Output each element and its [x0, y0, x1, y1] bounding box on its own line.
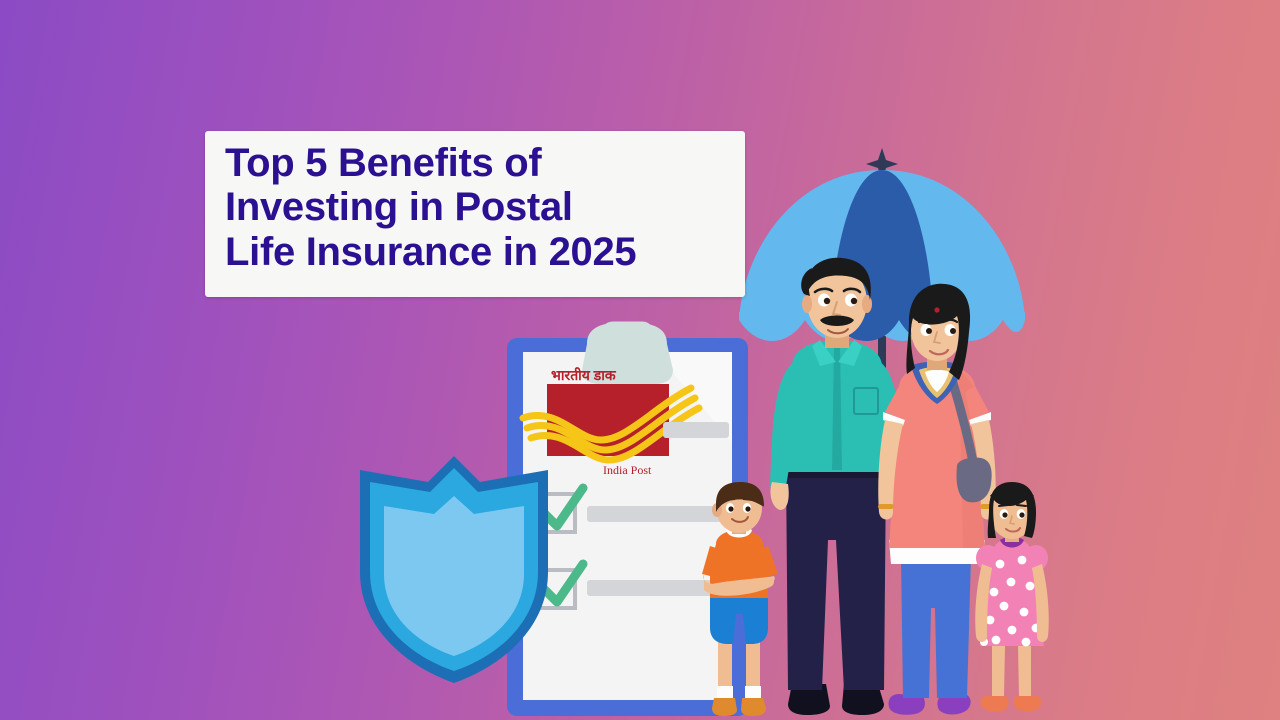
logo-flag-rect: [547, 384, 669, 456]
title-card: Top 5 Benefits of Investing in Postal Li…: [205, 131, 745, 297]
girl-shoe: [981, 696, 1009, 711]
boy-shorts: [710, 590, 768, 644]
boy-shoe: [712, 698, 737, 716]
girl-leg: [992, 646, 1005, 696]
woman-bindi: [934, 307, 939, 312]
girl-leg: [1018, 646, 1031, 696]
shield-illustration: [352, 452, 557, 687]
girl-shoe: [1014, 696, 1042, 711]
woman-bangle: [878, 504, 894, 509]
man-ear: [862, 295, 872, 313]
logo-english-text: India Post: [603, 463, 652, 477]
page-title: Top 5 Benefits of Investing in Postal Li…: [225, 141, 745, 274]
man-trousers: [786, 468, 886, 690]
figure-boy: [688, 486, 793, 720]
figure-girl: [960, 494, 1065, 720]
banner-canvas: Top 5 Benefits of Investing in Postal Li…: [0, 0, 1280, 720]
boy-shoe: [741, 698, 766, 716]
boy-sock: [745, 686, 761, 699]
logo-hindi-text: भारतीय डाक: [551, 367, 617, 383]
family-illustration: [660, 270, 1090, 720]
boy-sock: [717, 686, 733, 699]
man-ear: [802, 295, 812, 313]
